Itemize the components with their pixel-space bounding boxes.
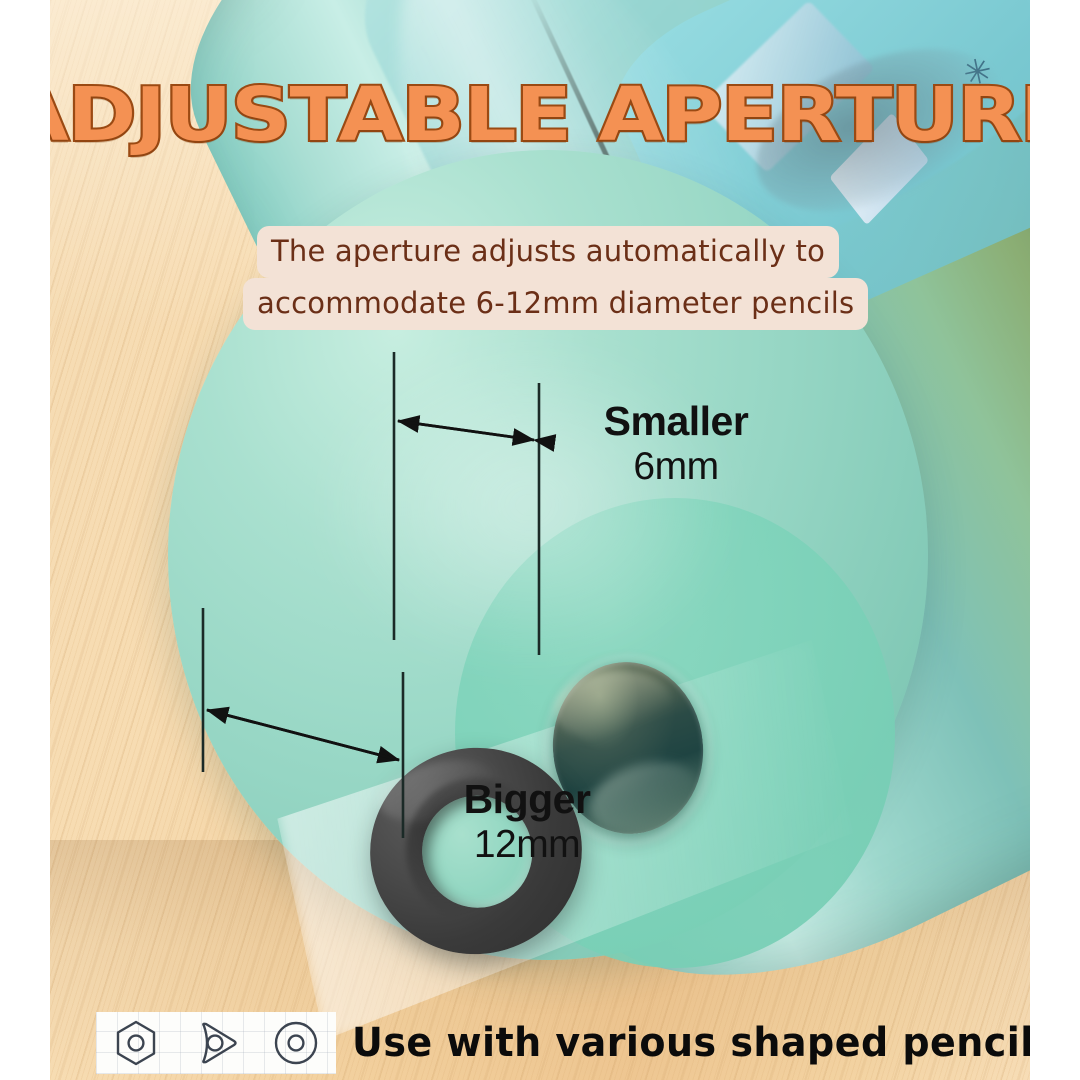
callout-smaller-value: 6mm (556, 443, 796, 492)
pencil-shape-icons-panel (96, 1012, 336, 1074)
callout-smaller-label: Smaller (556, 400, 796, 443)
callout-bigger-value: 12mm (412, 821, 642, 870)
face-glow (318, 340, 738, 670)
round-pencil-icon (270, 1017, 322, 1069)
hexagon-pencil-icon (110, 1017, 162, 1069)
product-infographic: ✳ (0, 0, 1080, 1080)
footer-caption: Use with various shaped pencils (352, 1013, 1057, 1073)
description-line-2: accommodate 6-12mm diameter pencils (243, 278, 868, 330)
callout-bigger-label: Bigger (412, 778, 642, 821)
callout-bigger: Bigger 12mm (412, 778, 642, 870)
page-title: ADJUSTABLE APERTURE (0, 78, 1080, 152)
description-line-1: The aperture adjusts automatically to (257, 226, 839, 278)
right-margin (1030, 0, 1080, 1080)
triangle-pencil-icon (190, 1017, 242, 1069)
product-photo: ✳ (50, 0, 1030, 1080)
left-margin (0, 0, 50, 1080)
description-block: The aperture adjusts automatically to ac… (243, 226, 853, 330)
callout-smaller: Smaller 6mm (556, 400, 796, 492)
